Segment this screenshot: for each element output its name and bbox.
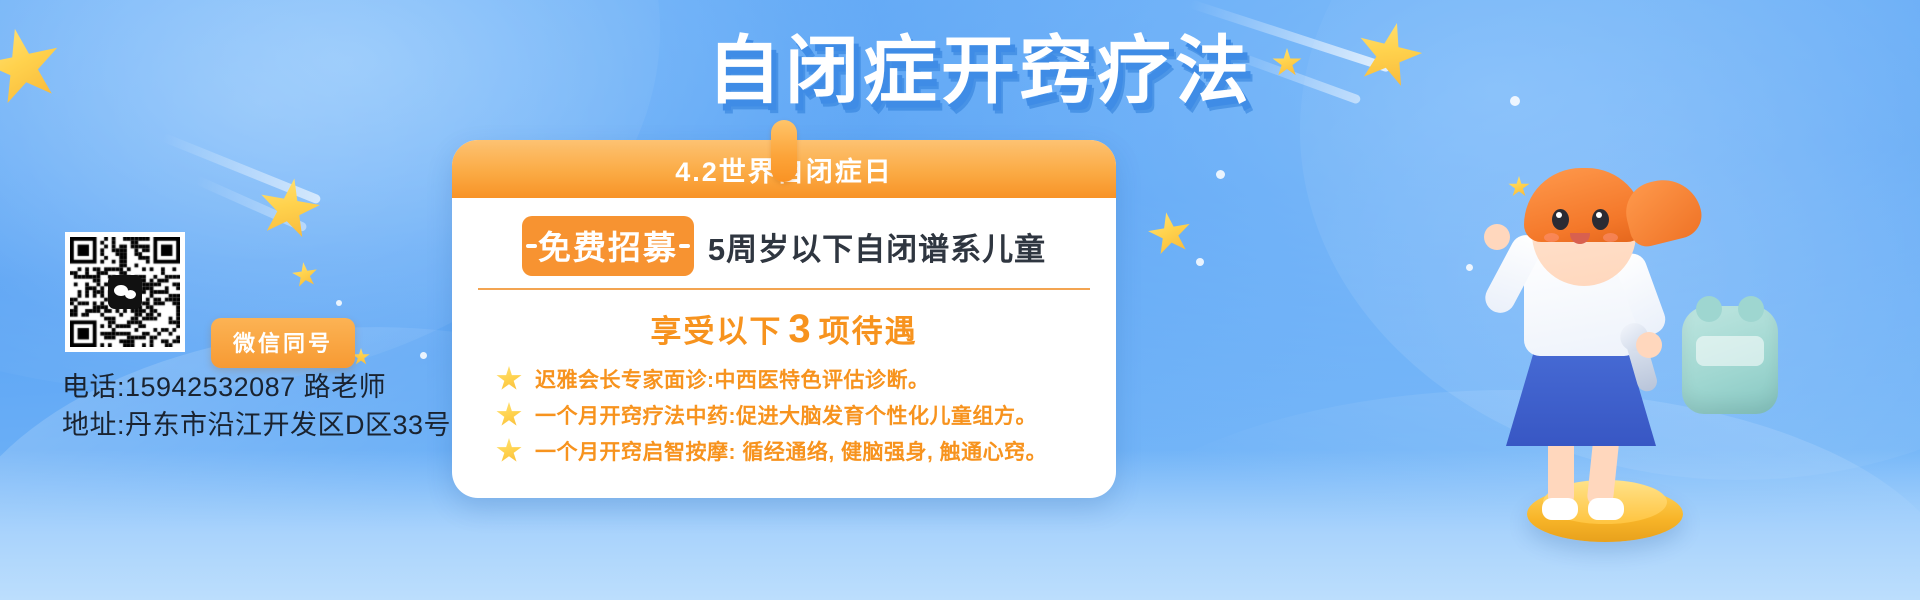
- badge-tick-left: [526, 244, 537, 248]
- benefit-heading-suffix: 项待遇: [819, 314, 918, 349]
- target-audience-text: 5周岁以下自闭谱系儿童: [708, 224, 1046, 269]
- page-title: 自闭症开窍疗法: [0, 34, 1920, 108]
- backpack-icon: [1682, 306, 1778, 414]
- shoe-right: [1588, 498, 1624, 520]
- wechat-qr-code[interactable]: [65, 232, 185, 352]
- girl-illustration: [1440, 112, 1770, 542]
- benefit-text: 一个月开窍疗法中药:促进大脑发育个性化儿童组方。: [535, 400, 1037, 430]
- cheek-right: [1603, 233, 1618, 242]
- sparkle-dot: [336, 300, 342, 306]
- benefit-text: 迟雅会长专家面诊:中西医特色评估诊断。: [535, 364, 930, 394]
- benefit-heading-prefix: 享受以下: [650, 314, 782, 349]
- hand-right: [1636, 332, 1662, 358]
- qr-pattern: [70, 237, 180, 347]
- shoe-left: [1542, 498, 1578, 520]
- banner-stage: 自闭症开窍疗法 4.2世界自闭症日: [0, 0, 1920, 600]
- wechat-icon: [108, 275, 142, 309]
- info-card: 4.2世界自闭症日 免费招募 5周岁以下自闭谱系儿童 享受以下3项待遇: [452, 140, 1116, 498]
- phone-line: 电话:15942532087 路老师: [62, 368, 451, 406]
- star-bullet-icon: [496, 438, 522, 464]
- benefit-heading: 享受以下3项待遇: [478, 306, 1090, 352]
- wechat-same-number-badge: 微信同号: [211, 318, 355, 368]
- recruit-row: 免费招募 5周岁以下自闭谱系儿童: [478, 216, 1090, 290]
- benefit-count: 3: [782, 307, 818, 351]
- star-bullet-icon: [496, 402, 522, 428]
- sparkle-dot: [1216, 170, 1225, 179]
- list-item: 迟雅会长专家面诊:中西医特色评估诊断。: [496, 364, 1090, 394]
- address-line: 地址:丹东市沿江开发区D区33号: [62, 406, 451, 444]
- star-bullet-icon: [496, 366, 522, 392]
- free-recruit-badge: 免费招募: [522, 216, 694, 276]
- benefit-text: 一个月开窍启智按摩: 循经通络, 健脑强身, 触通心窍。: [535, 436, 1047, 466]
- eye-left: [1552, 209, 1569, 230]
- sparkle-dot: [420, 352, 427, 359]
- card-hanger-tab: [771, 120, 797, 182]
- free-recruit-badge-label: 免费招募: [538, 229, 678, 266]
- list-item: 一个月开窍启智按摩: 循经通络, 健脑强身, 触通心窍。: [496, 436, 1090, 466]
- cheek-left: [1544, 233, 1559, 242]
- eye-right: [1592, 209, 1609, 230]
- hand-left: [1484, 224, 1510, 250]
- list-item: 一个月开窍疗法中药:促进大脑发育个性化儿童组方。: [496, 400, 1090, 430]
- ponytail: [1620, 172, 1707, 250]
- benefit-list: 迟雅会长专家面诊:中西医特色评估诊断。 一个月开窍疗法中药:促进大脑发育个性化儿…: [478, 364, 1090, 466]
- badge-tick-right: [679, 244, 690, 248]
- contact-info: 电话:15942532087 路老师 地址:丹东市沿江开发区D区33号: [62, 368, 451, 445]
- sparkle-dot: [1196, 258, 1204, 266]
